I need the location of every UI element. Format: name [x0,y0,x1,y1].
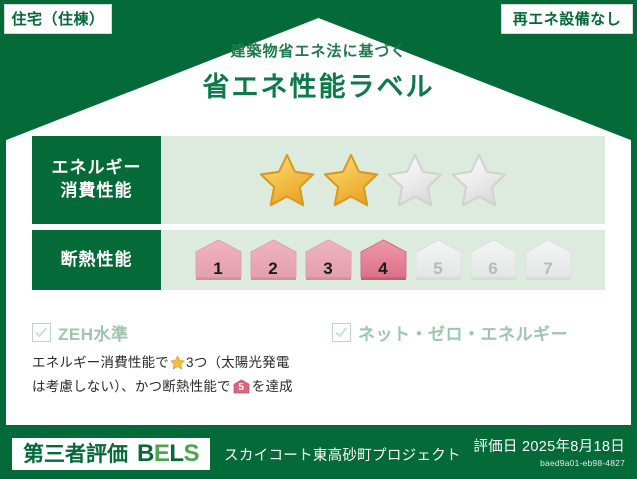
bels-letter-l: L [169,440,183,467]
inline-star-icon [170,355,185,377]
star-empty-icon [450,152,508,208]
row-insulation: 断熱性能 1234567 [32,230,605,290]
insulation-grade-2: 2 [249,238,298,282]
insulation-grade-4: 4 [359,238,408,282]
zeh-section: ZEH水準 エネルギー消費性能で 3つ（太陽光発電は考慮しない）、かつ断熱性能で… [32,320,605,398]
insulation-grade-scale: 1234567 [194,238,573,282]
insulation-grade-3: 3 [304,238,353,282]
star-filled-icon [258,152,316,208]
bels-letter-e: E [154,440,170,467]
tab-renewable-equipment[interactable]: 再エネ設備なし [501,4,633,34]
page-title: 建築物省エネ法に基づく 省エネ性能ラベル [0,40,637,104]
insulation-grade-number: 2 [249,260,298,277]
insulation-grade-5: 5 [414,238,463,282]
star-empty-icon [386,152,444,208]
insulation-grade-number: 3 [304,260,353,277]
row-insulation-label: 断熱性能 [32,230,161,290]
insulation-grade-number: 5 [414,260,463,277]
evaluation-id: baed9a01-eb98-4827 [473,458,625,468]
tab-building-type[interactable]: 住宅（住棟） [4,4,112,34]
check-icon [335,326,348,339]
evaluation-date: 評価日 2025年8月18日 [473,440,625,456]
page-title-main: 省エネ性能ラベル [0,65,637,104]
insulation-grade-number: 1 [194,260,243,277]
energy-performance-label: 住宅（住棟） 再エネ設備なし 建築物省エネ法に基づく 省エネ性能ラベル エネルギ… [0,0,637,479]
zeh-standard-description: エネルギー消費性能で 3つ（太陽光発電は考慮しない）、かつ断熱性能で 5 を達成 [32,353,332,398]
star-rating [258,152,508,208]
zeh-desc-part2: は考慮しない）、かつ断熱性能で [32,379,231,394]
row-energy-consumption: エネルギー 消費性能 [32,136,605,224]
rating-rows: エネルギー 消費性能 断熱性能 1234567 [32,136,605,296]
zeh-standard-block: ZEH水準 エネルギー消費性能で 3つ（太陽光発電は考慮しない）、かつ断熱性能で… [32,320,332,398]
star-filled-icon [322,152,380,208]
row-insulation-value: 1234567 [161,230,605,290]
page-subtitle: 建築物省エネ法に基づく [0,40,637,61]
footer-meta: 評価日 2025年8月18日 baed9a01-eb98-4827 [473,440,625,469]
tab-renewable-equipment-label: 再エネ設備なし [513,12,622,27]
tab-building-type-label: 住宅（住棟） [11,12,104,27]
insulation-grade-number: 6 [469,260,518,277]
bels-logo: BELS [137,442,199,466]
zeh-standard-checkbox[interactable] [32,323,51,342]
bels-letter-b: B [137,440,154,467]
insulation-grade-7: 7 [524,238,573,282]
net-zero-energy-checkbox[interactable] [332,323,351,342]
row-energy-label-line2: 消費性能 [61,181,133,200]
zeh-desc-part3: を達成 [252,379,293,394]
insulation-grade-6: 6 [469,238,518,282]
net-zero-energy-block: ネット・ゼロ・エネルギー [332,320,605,398]
insulation-grade-1: 1 [194,238,243,282]
footer: 第三者評価 BELS スカイコート東高砂町プロジェクト 評価日 2025年8月1… [0,429,637,479]
row-insulation-label-text: 断熱性能 [61,249,133,272]
bels-logo-box: 第三者評価 BELS [12,438,210,470]
zeh-desc-part1: エネルギー消費性能で [32,355,169,370]
project-name: スカイコート東高砂町プロジェクト [224,444,461,465]
third-party-evaluation-label: 第三者評価 [23,444,128,465]
row-energy-label-line1: エネルギー [52,158,142,177]
check-icon [35,326,48,339]
insulation-grade-number: 4 [359,260,408,277]
bels-letter-s: S [184,440,200,467]
row-energy-consumption-value [161,136,605,224]
inline-grade-badge-number: 5 [233,383,250,393]
zeh-standard-title: ZEH水準 [58,320,129,345]
zeh-desc-star-count: 3つ（太陽光発電 [186,355,290,370]
insulation-grade-number: 7 [524,260,573,277]
inline-grade-badge: 5 [233,379,250,394]
row-energy-consumption-label: エネルギー 消費性能 [32,136,161,224]
net-zero-energy-title: ネット・ゼロ・エネルギー [358,320,568,345]
